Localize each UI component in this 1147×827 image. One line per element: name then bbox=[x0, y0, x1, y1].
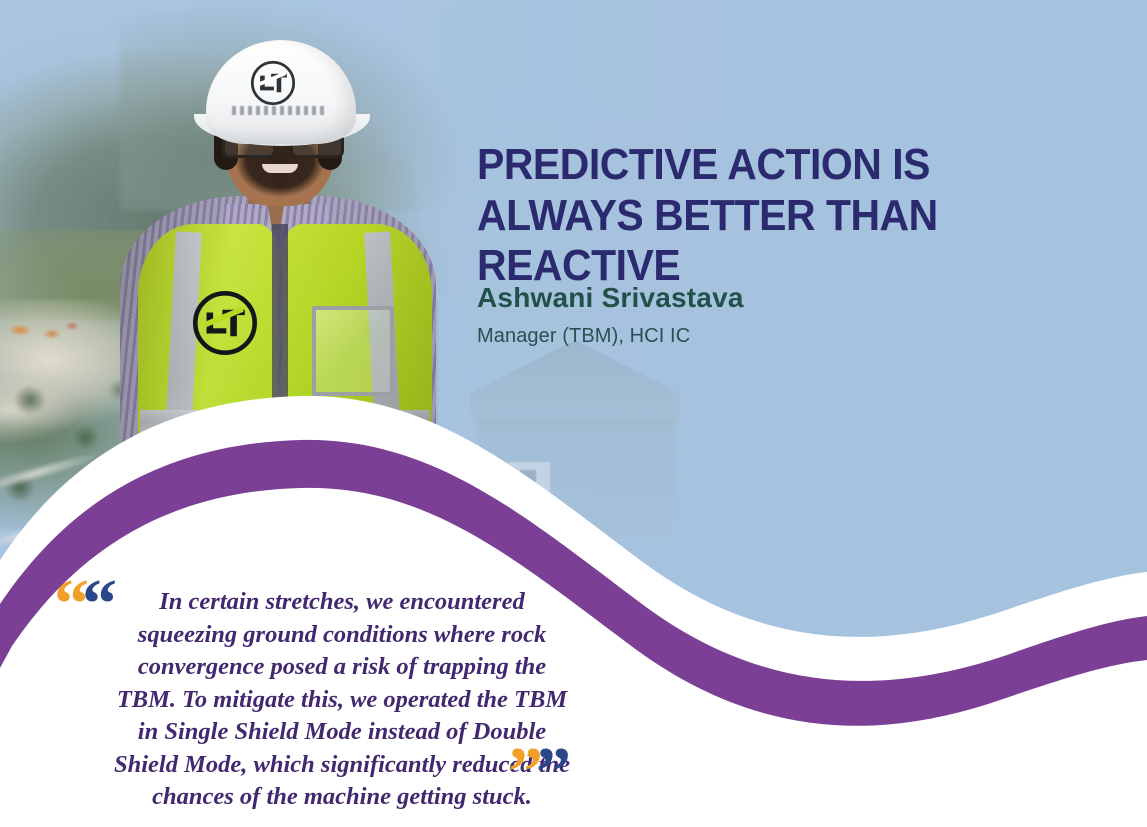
id-card-pocket bbox=[312, 306, 394, 396]
speaker-role: Manager (TBM), HCI IC bbox=[477, 325, 690, 348]
testimonial-poster: PREDICTIVE ACTION IS ALWAYS BETTER THAN … bbox=[0, 0, 1147, 827]
lt-logo-icon bbox=[192, 290, 258, 356]
mouth bbox=[262, 164, 298, 173]
quote-text: In certain stretches, we encountered squ… bbox=[112, 586, 572, 814]
speaker-name: Ashwani Srivastava bbox=[477, 282, 744, 314]
engineer-portrait bbox=[96, 18, 456, 538]
site-sign-letter bbox=[520, 470, 536, 492]
quote-block: “ “ In certain stretches, we encountered… bbox=[52, 578, 582, 818]
quote-close-mark-blue-icon: ” bbox=[536, 738, 571, 808]
construction-equipment bbox=[8, 318, 82, 344]
hard-hat-wordmark bbox=[232, 106, 324, 115]
page-title: PREDICTIVE ACTION IS ALWAYS BETTER THAN … bbox=[477, 140, 1082, 292]
lt-logo-helmet-icon bbox=[250, 60, 296, 106]
